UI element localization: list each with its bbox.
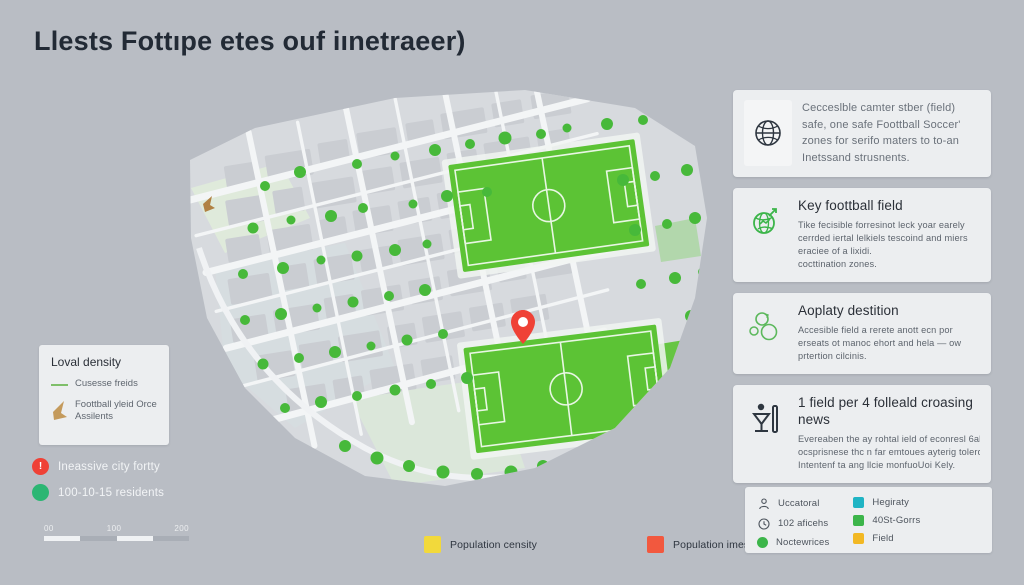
lower-football-pitch [457, 318, 676, 460]
amber-swatch-icon [853, 533, 864, 544]
map-key-label: 102 aficehs [778, 518, 828, 529]
legend-label-text: Foottball yleid Orce Assilents [75, 399, 157, 423]
map-key-label: Hegiraty [872, 497, 909, 508]
info-card-key-football-field[interactable]: Key foottball field Tike fecisible forre… [733, 188, 991, 282]
card-line: erseats ot manoc ehort and hela — ow [798, 337, 980, 350]
card-line: cocttination zones. [798, 258, 980, 271]
card-line: Inetssand strusnents. [802, 150, 980, 167]
legend-label: Cusesse freids [75, 378, 138, 391]
density-row-residents: 100-10-15 residents [32, 484, 242, 501]
map-key-label: 40St-Gorrs [872, 515, 920, 526]
info-card-aoplaty-destition[interactable]: Aoplaty destition Accesible field a rere… [733, 293, 991, 374]
map-dashboard: Llests Fottıpe etes ouf iınetraeer) [0, 0, 1024, 585]
green-dot-icon [757, 537, 768, 548]
clock-icon [757, 517, 770, 530]
map-key-label: Uccatoral [778, 498, 819, 509]
info-card-heading: 1 field per 4 folleald croasing news [798, 395, 980, 429]
person-flag-icon [744, 395, 788, 441]
info-card-body: Evereaben the ay rohtal ield of econresl… [798, 433, 980, 472]
arrow-marker-icon [51, 400, 68, 425]
map-key-row-gorrs: 40St-Gorrs [853, 515, 920, 526]
red-swatch-icon [647, 536, 664, 553]
green-globe-arrow-icon [744, 198, 788, 244]
globe-icon [744, 100, 792, 166]
info-card-body: Tike fecisible forresinot leck yoar eare… [798, 219, 980, 271]
map-canvas[interactable] [95, 68, 735, 518]
map-scale-bar: 00 100 200 [44, 524, 189, 541]
card-line: safe, one safe Foottball Soccer' [802, 117, 980, 134]
legend-row-football-yield: Foottball yleid Orce Assilents [51, 399, 158, 425]
yellow-swatch-icon [424, 536, 441, 553]
info-card-list: Cecceslble camter stber (field) safe, on… [733, 90, 991, 494]
page-title: Llests Fottıpe etes ouf iınetraeer) [34, 26, 466, 57]
info-card-accessible-field[interactable]: Cecceslble camter stber (field) safe, on… [733, 90, 991, 177]
legend-label: Foottball yleid Orce Assilents [75, 399, 158, 424]
map-key-row-aficehs: 102 aficehs [757, 517, 829, 530]
card-line: eraciee of a lixidi. [798, 245, 980, 258]
info-card-heading: Aoplaty destition [798, 303, 980, 320]
map-key-panel: Uccatoral 102 aficehs Noctewrices Hegir [745, 487, 992, 553]
legend-label: Population censity [450, 539, 537, 551]
map-key-row-uccatoral: Uccatoral [757, 497, 829, 510]
density-legend-panel: Loval density Cusesse freids Foottball y… [39, 345, 169, 445]
density-row-list: ! Ineassive city fortty 100-10-15 reside… [32, 458, 242, 510]
density-label: 100-10-15 residents [58, 487, 164, 499]
map-illustration [95, 68, 735, 518]
map-key-row-field: Field [853, 533, 920, 544]
card-line: Tike fecisible forresinot leck yoar eare… [798, 219, 980, 232]
scale-labels: 00 100 200 [44, 524, 189, 533]
info-card-body: Accesible field a rerete anott ecn por e… [798, 324, 980, 363]
density-label: Ineassive city fortty [58, 461, 160, 473]
population-legend: Population censity Population imessity [424, 536, 765, 553]
scale-label: 100 [107, 524, 122, 533]
card-line: Intentenf ta ang llcie monfuoUoi Kely. [798, 459, 980, 472]
line-swatch-icon [51, 384, 68, 386]
card-line: ocsprisnese thc n far emtoues ayterig to… [798, 446, 980, 459]
map-key-row-noctewrices: Noctewrices [757, 537, 829, 548]
info-card-body: Cecceslble camter stber (field) safe, on… [802, 100, 980, 166]
info-card-heading: Key foottball field [798, 198, 980, 215]
density-row-alert: ! Ineassive city fortty [32, 458, 242, 475]
scale-label: 200 [174, 524, 189, 533]
info-card-field-per-folleald[interactable]: 1 field per 4 folleald croasing news Eve… [733, 385, 991, 483]
card-line: Accesible field a rerete anott ecn por [798, 324, 980, 337]
card-line: prtertion cilcinis. [798, 350, 980, 363]
card-line: cerrded iertal lelkiels tescoind and mie… [798, 232, 980, 245]
map-key-row-hegiraty: Hegiraty [853, 497, 920, 508]
card-line: Cecceslble camter stber (field) [802, 100, 980, 117]
alert-dot-icon: ! [32, 458, 49, 475]
person-icon [757, 497, 770, 510]
card-line: zones for serifo maters to to-an [802, 133, 980, 150]
recycle-circles-icon [744, 303, 788, 349]
scale-track [44, 536, 189, 541]
map-key-label: Noctewrices [776, 537, 829, 548]
legend-title: Loval density [51, 355, 158, 369]
legend-item-population-censity: Population censity [424, 536, 537, 553]
map-key-column-left: Uccatoral 102 aficehs Noctewrices [757, 497, 829, 543]
card-line: Evereaben the ay rohtal ield of econresl… [798, 433, 980, 446]
teal-swatch-icon [853, 497, 864, 508]
map-key-label: Field [872, 533, 893, 544]
scale-label: 00 [44, 524, 54, 533]
residents-dot-icon [32, 484, 49, 501]
map-key-column-right: Hegiraty 40St-Gorrs Field [853, 497, 920, 543]
legend-row-fields: Cusesse freids [51, 378, 158, 391]
green-swatch-icon [853, 515, 864, 526]
